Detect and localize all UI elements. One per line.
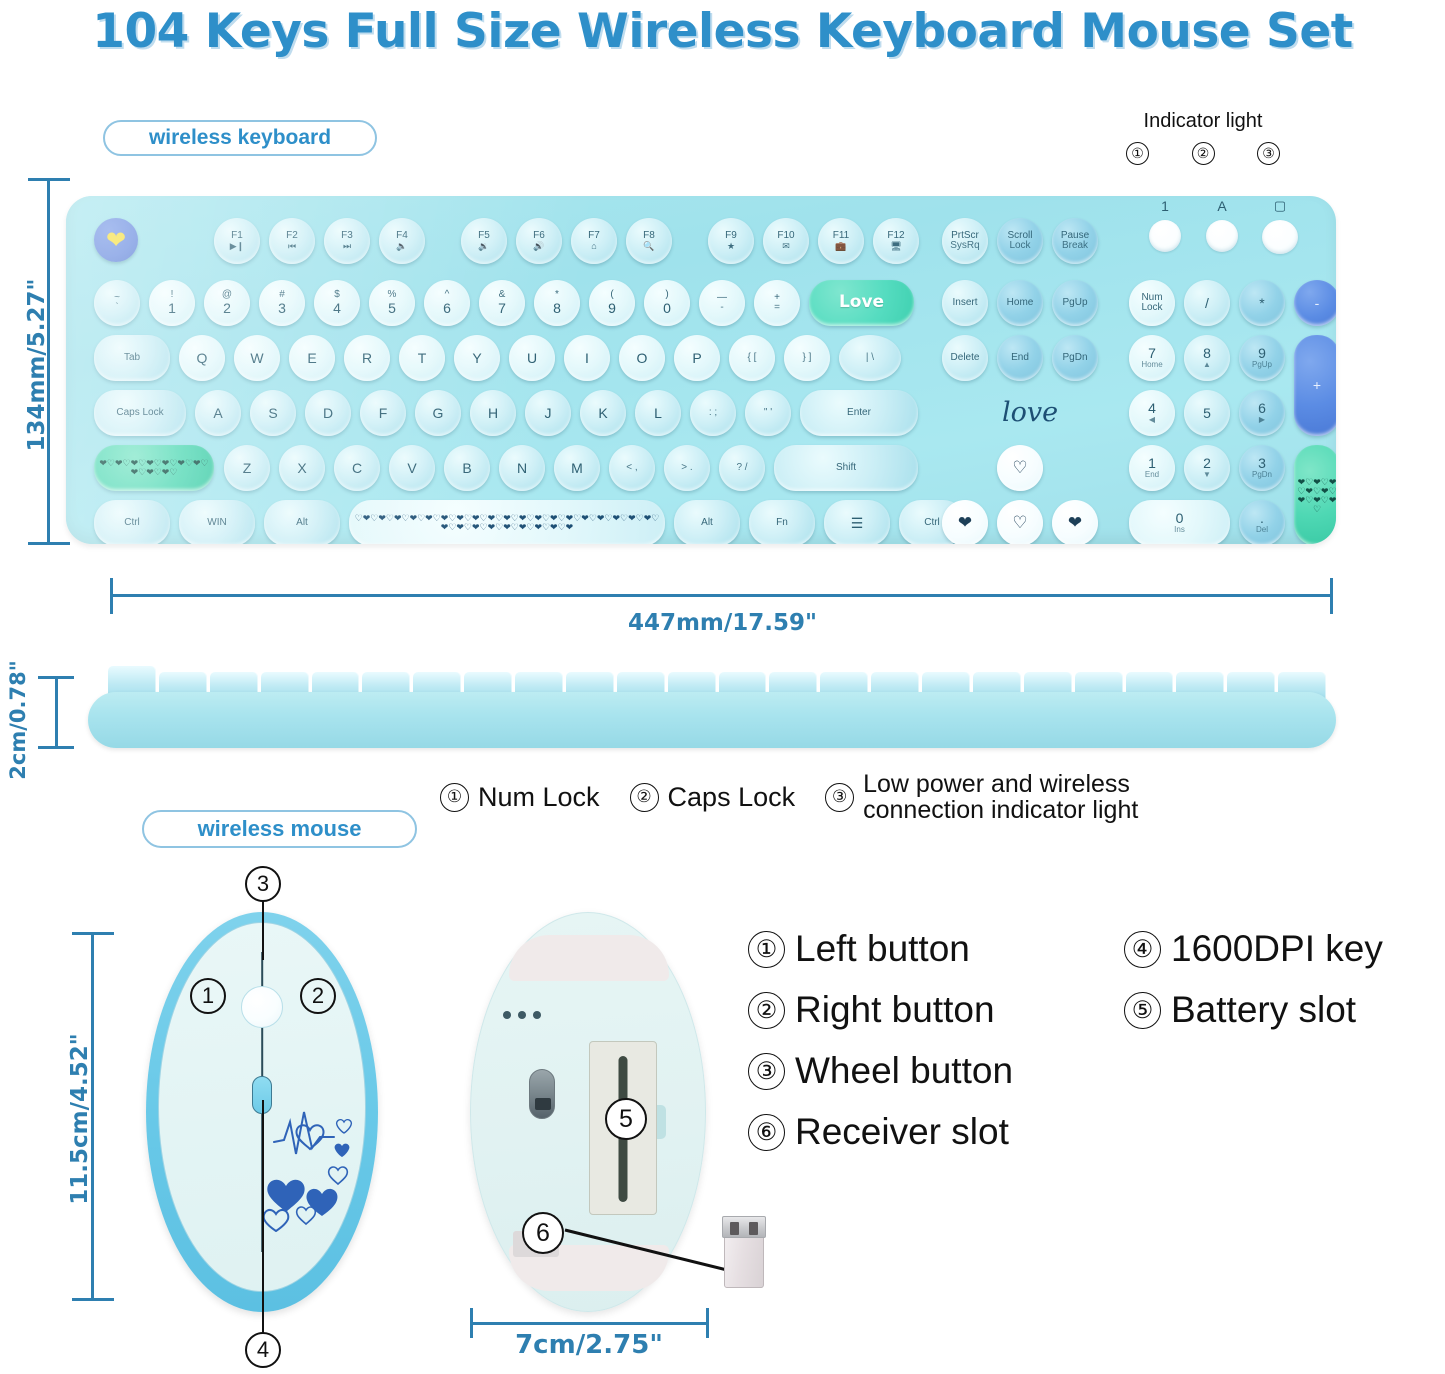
callout-wheel-number: 3 — [245, 866, 281, 902]
legend-mouse-num-4: ④ — [1124, 931, 1161, 968]
legend-mouse-text-5: Battery slot — [1171, 989, 1356, 1031]
key-9-top: ( — [610, 290, 613, 301]
key-numpad-9-label: 9 — [1258, 346, 1266, 361]
key-numpad-0-sub: Ins — [1174, 526, 1185, 534]
key-semicolon-label: : ; — [709, 408, 717, 419]
legend-mouse-item-2: ② Right button — [748, 989, 1013, 1031]
dim-label-mouse-width: 7cm/2.75" — [470, 1330, 708, 1360]
key-quote[interactable]: " ' — [745, 390, 791, 436]
key-l[interactable]: L — [635, 390, 681, 436]
key-f12-icon: 🖥 — [890, 242, 901, 251]
key-alt-left-label: Alt — [296, 518, 308, 529]
key-i[interactable]: I — [564, 335, 610, 381]
key-f5-icon: 🔉 — [478, 242, 489, 251]
key-numpad-0-label: 0 — [1176, 511, 1184, 526]
key-alt-left[interactable]: Alt — [264, 500, 340, 544]
badge-wireless-mouse: wireless mouse — [142, 810, 417, 848]
mouse-optical-sensor — [529, 1069, 555, 1119]
callout-battery-number: 5 — [605, 1098, 647, 1140]
key-f5[interactable]: F5 🔉 — [461, 218, 507, 264]
key-f8-icon: 🔍 — [643, 242, 654, 251]
key-menu-icon: ☰ — [851, 516, 864, 531]
key-5-bot: 5 — [388, 301, 396, 316]
key-f[interactable]: F — [360, 390, 406, 436]
mouse-love-hearts-art-icon — [264, 1082, 356, 1232]
key-f4[interactable]: F4 🔈 — [379, 218, 425, 264]
keyboard-top-view: ❤ F1 ▶❙ F2 ⏮ F3 ⏭ F4 🔈 F5 🔉 F6 🔊 F7 ⌂ — [66, 196, 1336, 544]
legend-mouse-num-1: ① — [748, 931, 785, 968]
key-f8[interactable]: F8 🔍 — [626, 218, 672, 264]
key-numpad-3[interactable]: 3 PgDn — [1239, 445, 1285, 491]
led-power — [1262, 220, 1298, 254]
key-shift-right[interactable]: Shift — [774, 445, 918, 491]
keyboard-side-view — [88, 692, 1336, 748]
key-capslock[interactable]: Caps Lock — [94, 390, 186, 436]
key-bracket-left[interactable]: { [ — [729, 335, 775, 381]
key-bracket-right[interactable]: } ] — [784, 335, 830, 381]
key-slash[interactable]: ? / — [719, 445, 765, 491]
key-fn-label: Fn — [776, 518, 788, 529]
key-numpad-7[interactable]: 7 Home — [1129, 335, 1175, 381]
page-title: 104 Keys Full Size Wireless Keyboard Mou… — [0, 4, 1445, 59]
key-scrolllock[interactable]: Scroll Lock — [997, 218, 1043, 264]
key-insert[interactable]: Insert — [942, 280, 988, 326]
key-backspace-love[interactable]: Love — [809, 280, 914, 326]
key-f6-icon: 🔊 — [533, 242, 544, 251]
key-shift-left[interactable]: ❤♡❤♡❤♡❤♡❤♡❤♡❤♡❤♡❤♡❤♡ — [94, 445, 214, 491]
key-menu[interactable]: ☰ — [824, 500, 890, 544]
key-f6-label: F6 — [533, 231, 545, 242]
legend-mouse-item-3: ③ Wheel button — [748, 1050, 1013, 1092]
heart-pattern-icon-space: ♡❤♡❤♡❤♡❤♡❤♡❤♡❤♡❤♡❤♡❤♡❤♡❤♡❤♡❤♡❤♡❤♡❤♡❤♡❤♡❤… — [352, 503, 662, 543]
key-f4-label: F4 — [396, 231, 408, 242]
key-3-bot: 3 — [278, 301, 286, 316]
key-enter[interactable]: Enter — [800, 390, 918, 436]
key-2-bot: 2 — [223, 301, 231, 316]
key-f1-label: F1 — [231, 231, 243, 242]
key-i-label: I — [585, 351, 589, 366]
key-equals-bot: = — [774, 303, 780, 314]
key-numpad-7-label: 7 — [1148, 346, 1156, 361]
callout-battery: 5 — [605, 1098, 647, 1140]
key-numpad-dot-sub: Del — [1256, 526, 1268, 534]
key-u[interactable]: U — [509, 335, 555, 381]
key-minus-bot: - — [720, 303, 723, 314]
key-s[interactable]: S — [250, 390, 296, 436]
key-pausebreak-bot: Break — [1062, 241, 1088, 252]
heart-pattern-icon-shift: ❤♡❤♡❤♡❤♡❤♡❤♡❤♡❤♡❤♡❤♡ — [97, 448, 211, 488]
indicator-light-numbers: ① ② ③ — [1108, 142, 1298, 165]
indicator-number-2: ② — [1192, 142, 1215, 165]
key-numpad-0[interactable]: 0 Ins — [1129, 500, 1230, 544]
mouse-glide-pad-top — [509, 935, 669, 981]
key-arrow-down-heart-icon[interactable]: ♡ — [997, 500, 1043, 544]
key-o-label: O — [637, 351, 648, 366]
legend-mouse-item-6: ⑥ Receiver slot — [748, 1111, 1013, 1153]
key-ctrl-right-label: Ctrl — [924, 518, 940, 529]
legend-mouse-right-column: ④ 1600DPI key ⑤ Battery slot — [1124, 928, 1383, 1050]
usb-receiver-icon — [718, 1212, 770, 1290]
key-8-bot: 8 — [553, 301, 561, 316]
key-numpad-multiply[interactable]: * — [1239, 280, 1285, 326]
key-t[interactable]: T — [399, 335, 445, 381]
key-numpad-4-label: 4 — [1148, 401, 1156, 416]
heart-pattern-icon: ❤♡❤♡❤♡❤♡❤♡❤♡❤♡❤♡ — [1297, 448, 1336, 543]
key-n-label: N — [517, 461, 527, 476]
key-space[interactable]: ♡❤♡❤♡❤♡❤♡❤♡❤♡❤♡❤♡❤♡❤♡❤♡❤♡❤♡❤♡❤♡❤♡❤♡❤♡❤♡❤… — [349, 500, 665, 544]
key-numpad-6-sub: ▶ — [1259, 416, 1265, 424]
key-f1-icon: ▶❙ — [230, 242, 244, 251]
key-enter-label: Enter — [847, 408, 871, 419]
key-7-top: & — [499, 290, 506, 301]
key-backslash[interactable]: | \ — [839, 335, 901, 381]
key-f3-icon: ⏭ — [343, 242, 351, 251]
key-m-label: M — [571, 461, 583, 476]
dim-cap-kb-thick-bottom — [38, 746, 74, 749]
key-v-label: V — [407, 461, 416, 476]
led-mark-1: 1 — [1149, 198, 1181, 214]
key-f-label: F — [379, 406, 388, 421]
key-numpad-2[interactable]: 2 ▼ — [1184, 445, 1230, 491]
key-numpad-7-sub: Home — [1141, 361, 1162, 369]
legend-mouse-num-2: ② — [748, 992, 785, 1029]
legend-indicator-item-2: ② Caps Lock — [630, 782, 796, 813]
key-shift-right-label: Shift — [836, 463, 856, 474]
key-pageup[interactable]: PgUp — [1052, 280, 1098, 326]
key-pausebreak[interactable]: Pause Break — [1052, 218, 1098, 264]
key-c[interactable]: C — [334, 445, 380, 491]
key-v[interactable]: V — [389, 445, 435, 491]
legend-mouse-num-6: ⑥ — [748, 1114, 785, 1151]
key-4-bot: 4 — [333, 301, 341, 316]
key-f8-label: F8 — [643, 231, 655, 242]
legend-indicator-num-1: ① — [440, 783, 469, 812]
indicator-light-label: Indicator light — [1108, 110, 1298, 133]
key-backspace-love-label: Love — [839, 294, 884, 312]
key-b[interactable]: B — [444, 445, 490, 491]
key-home-label: Home — [1007, 298, 1034, 309]
dim-cap-kb-height-bottom — [28, 542, 70, 545]
legend-indicator-item-3: ③ Low power and wireless connection indi… — [825, 771, 1253, 824]
key-win[interactable]: WIN — [179, 500, 255, 544]
key-semicolon[interactable]: : ; — [690, 390, 736, 436]
legend-mouse-text-4: 1600DPI key — [1171, 928, 1383, 970]
key-8[interactable]: * 8 — [534, 280, 580, 326]
key-d-label: D — [323, 406, 333, 421]
callout-left-button-number: 1 — [190, 978, 226, 1014]
key-f1[interactable]: F1 ▶❙ — [214, 218, 260, 264]
key-g[interactable]: G — [415, 390, 461, 436]
key-j-label: J — [545, 406, 552, 421]
key-p-label: P — [692, 351, 701, 366]
key-6[interactable]: ^ 6 — [424, 280, 470, 326]
key-f11-icon: 💼 — [835, 242, 846, 251]
key-win-label: WIN — [207, 518, 226, 529]
key-7-bot: 7 — [498, 301, 506, 316]
key-z-label: Z — [243, 461, 252, 476]
key-f10[interactable]: F10 ✉ — [763, 218, 809, 264]
key-6-bot: 6 — [443, 301, 451, 316]
key-quote-label: " ' — [764, 408, 772, 419]
key-numpad-6-label: 6 — [1258, 401, 1266, 416]
key-6-top: ^ — [445, 290, 450, 301]
key-3-top: # — [279, 290, 285, 301]
legend-indicator-text-1: Num Lock — [478, 782, 600, 813]
led-mark-power: ▢ — [1262, 198, 1298, 214]
key-d[interactable]: D — [305, 390, 351, 436]
key-w[interactable]: W — [234, 335, 280, 381]
key-backslash-label: | \ — [866, 353, 874, 364]
key-numpad-dot-label: . — [1260, 511, 1264, 526]
key-c-label: C — [352, 461, 362, 476]
key-comma[interactable]: < , — [609, 445, 655, 491]
key-printscreen-bot: SysRq — [950, 241, 979, 252]
legend-mouse-text-3: Wheel button — [795, 1050, 1013, 1092]
key-f11[interactable]: F11 💼 — [818, 218, 864, 264]
key-9-bot: 9 — [608, 301, 616, 316]
key-2-top: @ — [222, 290, 232, 301]
key-delete[interactable]: Delete — [942, 335, 988, 381]
key-a[interactable]: A — [195, 390, 241, 436]
badge-keyboard-label: wireless keyboard — [149, 126, 331, 150]
legend-mouse-item-5: ⑤ Battery slot — [1124, 989, 1383, 1031]
key-numpad-1[interactable]: 1 End — [1129, 445, 1175, 491]
key-equals[interactable]: + = — [754, 280, 800, 326]
key-numpad-dot[interactable]: . Del — [1239, 500, 1285, 544]
key-numpad-8-sub: ▲ — [1203, 361, 1211, 369]
key-g-label: G — [433, 406, 444, 421]
legend-indicator-text-3: Low power and wireless connection indica… — [863, 771, 1253, 824]
key-pagedown-label: PgDn — [1062, 353, 1087, 364]
key-fn[interactable]: Fn — [749, 500, 815, 544]
dim-line-kb-thickness — [55, 676, 58, 748]
key-tab-label: Tab — [124, 353, 140, 364]
key-numpad-8-label: 8 — [1203, 346, 1211, 361]
key-m[interactable]: M — [554, 445, 600, 491]
key-f3[interactable]: F3 ⏭ — [324, 218, 370, 264]
legend-mouse: ① Left button ② Right button ③ Wheel but… — [748, 928, 1445, 1188]
key-w-label: W — [250, 351, 263, 366]
key-alt-right[interactable]: Alt — [674, 500, 740, 544]
key-delete-label: Delete — [951, 353, 980, 364]
dim-label-mouse-height: 11.5cm/4.52" — [67, 1024, 93, 1214]
key-tab[interactable]: Tab — [94, 335, 170, 381]
legend-mouse-left-column: ① Left button ② Right button ③ Wheel but… — [748, 928, 1013, 1172]
key-minus[interactable]: — - — [699, 280, 745, 326]
key-logo-heart-icon[interactable]: ❤ — [94, 218, 138, 262]
key-1-bot: 1 — [168, 301, 176, 316]
key-f10-icon: ✉ — [782, 242, 790, 251]
key-r-label: R — [362, 351, 372, 366]
key-ctrl-left-label: Ctrl — [124, 518, 140, 529]
key-z[interactable]: Z — [224, 445, 270, 491]
key-s-label: S — [268, 406, 277, 421]
key-period[interactable]: > . — [664, 445, 710, 491]
vent-dot — [518, 1011, 526, 1019]
key-bracket-right-label: } ] — [803, 353, 812, 364]
legend-mouse-text-6: Receiver slot — [795, 1111, 1009, 1153]
callout-right-button: 2 — [300, 978, 336, 1014]
key-numpad-9-sub: PgUp — [1252, 361, 1272, 369]
key-4-top: $ — [334, 290, 340, 301]
lead-line-dpi — [262, 1100, 264, 1336]
legend-indicator-item-1: ① Num Lock — [440, 782, 600, 813]
key-arrow-left-heart-icon[interactable]: ❤ — [942, 500, 988, 544]
key-f3-label: F3 — [341, 231, 353, 242]
callout-dpi-number: 4 — [245, 1332, 281, 1368]
key-f7[interactable]: F7 ⌂ — [571, 218, 617, 264]
key-f12[interactable]: F12 🖥 — [873, 218, 919, 264]
key-f7-icon: ⌂ — [591, 242, 596, 251]
key-e[interactable]: E — [289, 335, 335, 381]
callout-dpi: 4 — [245, 1332, 281, 1368]
key-numpad-9[interactable]: 9 PgUp — [1239, 335, 1285, 381]
key-0[interactable]: ) 0 — [644, 280, 690, 326]
key-2[interactable]: @ 2 — [204, 280, 250, 326]
key-numpad-2-label: 2 — [1203, 456, 1211, 471]
legend-indicator-lights: ① Num Lock ② Caps Lock ③ Low power and w… — [440, 768, 1360, 826]
key-pagedown[interactable]: PgDn — [1052, 335, 1098, 381]
key-ctrl-left[interactable]: Ctrl — [94, 500, 170, 544]
mouse-scroll-wheel[interactable] — [241, 986, 283, 1028]
key-end-label: End — [1011, 353, 1029, 364]
legend-mouse-num-3: ③ — [748, 1053, 785, 1090]
key-b-label: B — [462, 461, 471, 476]
callout-left-button: 1 — [190, 978, 226, 1014]
key-end[interactable]: End — [997, 335, 1043, 381]
key-5[interactable]: % 5 — [369, 280, 415, 326]
key-f9-label: F9 — [725, 231, 737, 242]
key-f10-label: F10 — [777, 231, 794, 242]
key-capslock-label: Caps Lock — [116, 408, 163, 419]
key-numpad-4[interactable]: 4 ◀ — [1129, 390, 1175, 436]
callout-receiver-number: 6 — [522, 1212, 564, 1254]
dim-label-kb-width: 447mm/17.59" — [0, 610, 1445, 636]
badge-wireless-keyboard: wireless keyboard — [103, 120, 377, 156]
key-h[interactable]: H — [470, 390, 516, 436]
usb-body — [724, 1232, 764, 1288]
key-o[interactable]: O — [619, 335, 665, 381]
key-u-label: U — [527, 351, 537, 366]
dim-line-mouse-width — [470, 1322, 708, 1325]
key-r[interactable]: R — [344, 335, 390, 381]
key-numpad-4-sub: ◀ — [1149, 416, 1155, 424]
legend-mouse-num-5: ⑤ — [1124, 992, 1161, 1029]
key-k-label: K — [598, 406, 607, 421]
key-numpad-5[interactable]: 5 — [1184, 390, 1230, 436]
key-1[interactable]: ! 1 — [149, 280, 195, 326]
legend-indicator-num-3: ③ — [825, 783, 854, 812]
key-n[interactable]: N — [499, 445, 545, 491]
key-printscreen[interactable]: PrtScr SysRq — [942, 218, 988, 264]
key-alt-right-label: Alt — [701, 518, 713, 529]
key-1-top: ! — [171, 290, 174, 301]
key-arrow-up-heart-icon[interactable]: ♡ — [997, 445, 1043, 491]
key-0-bot: 0 — [663, 301, 671, 316]
key-f6[interactable]: F6 🔊 — [516, 218, 562, 264]
key-numpad-2-sub: ▼ — [1203, 471, 1211, 479]
key-numpad-plus[interactable]: + — [1294, 335, 1336, 436]
keyboard-deck-love-script: love — [960, 392, 1100, 432]
key-0-top: ) — [665, 290, 668, 301]
key-f9-icon: ★ — [727, 242, 735, 251]
dim-label-kb-thickness: 2cm/0.78" — [6, 655, 30, 785]
led-mark-a: A — [1206, 198, 1238, 214]
key-f7-label: F7 — [588, 231, 600, 242]
vent-dot — [533, 1011, 541, 1019]
dim-line-kb-width — [110, 594, 1332, 597]
key-numpad-3-sub: PgDn — [1252, 471, 1272, 479]
badge-mouse-label: wireless mouse — [198, 816, 362, 842]
key-numpad-multiply-label: * — [1259, 296, 1264, 311]
usb-pin — [749, 1222, 758, 1235]
legend-mouse-item-1: ① Left button — [748, 928, 1013, 970]
led-capslock — [1206, 220, 1238, 252]
led-numlock — [1149, 220, 1181, 252]
key-numpad-divide[interactable]: / — [1184, 280, 1230, 326]
key-numpad-1-label: 1 — [1148, 456, 1156, 471]
key-backtick[interactable]: ~ ` — [94, 280, 140, 326]
key-a-label: A — [213, 406, 222, 421]
legend-mouse-item-4: ④ 1600DPI key — [1124, 928, 1383, 970]
key-numpad-minus[interactable]: - — [1294, 280, 1336, 326]
battery-cover-latch[interactable] — [657, 1105, 666, 1139]
key-backtick-bot: ` — [115, 303, 118, 314]
key-numpad-5-label: 5 — [1203, 406, 1211, 421]
legend-mouse-text-1: Left button — [795, 928, 970, 970]
key-q[interactable]: Q — [179, 335, 225, 381]
key-k[interactable]: K — [580, 390, 626, 436]
key-arrow-right-heart-icon[interactable]: ❤ — [1052, 500, 1098, 544]
key-t-label: T — [418, 351, 427, 366]
key-h-label: H — [488, 406, 498, 421]
legend-mouse-text-2: Right button — [795, 989, 995, 1031]
key-numpad-6[interactable]: 6 ▶ — [1239, 390, 1285, 436]
mouse-vent-dots-icon — [503, 1011, 541, 1019]
key-7[interactable]: & 7 — [479, 280, 525, 326]
indicator-number-3: ③ — [1257, 142, 1280, 165]
key-insert-label: Insert — [952, 298, 977, 309]
key-f5-label: F5 — [478, 231, 490, 242]
key-9[interactable]: ( 9 — [589, 280, 635, 326]
key-y[interactable]: Y — [454, 335, 500, 381]
key-j[interactable]: J — [525, 390, 571, 436]
key-f9[interactable]: F9 ★ — [708, 218, 754, 264]
key-pageup-label: PgUp — [1062, 298, 1087, 309]
key-numpad-plus-label: + — [1313, 378, 1321, 393]
key-numpad-enter[interactable]: ❤♡❤♡❤♡❤♡❤♡❤♡❤♡❤♡ — [1294, 445, 1336, 544]
infographic-page: 104 Keys Full Size Wireless Keyboard Mou… — [0, 0, 1445, 1374]
key-x[interactable]: X — [279, 445, 325, 491]
key-numpad-divide-label: / — [1205, 296, 1209, 311]
key-bracket-left-label: { [ — [748, 353, 757, 364]
key-numpad-8[interactable]: 8 ▲ — [1184, 335, 1230, 381]
key-f2[interactable]: F2 ⏮ — [269, 218, 315, 264]
key-p[interactable]: P — [674, 335, 720, 381]
key-numpad-3-label: 3 — [1258, 456, 1266, 471]
key-5-top: % — [388, 290, 397, 301]
key-q-label: Q — [197, 351, 208, 366]
key-home[interactable]: Home — [997, 280, 1043, 326]
key-4[interactable]: $ 4 — [314, 280, 360, 326]
key-3[interactable]: # 3 — [259, 280, 305, 326]
key-f2-icon: ⏮ — [288, 242, 296, 251]
key-period-label: > . — [681, 463, 692, 474]
key-numlock[interactable]: Num Lock — [1129, 280, 1175, 326]
key-numpad-1-sub: End — [1145, 471, 1159, 479]
vent-dot — [503, 1011, 511, 1019]
key-f4-icon: 🔈 — [396, 242, 407, 251]
